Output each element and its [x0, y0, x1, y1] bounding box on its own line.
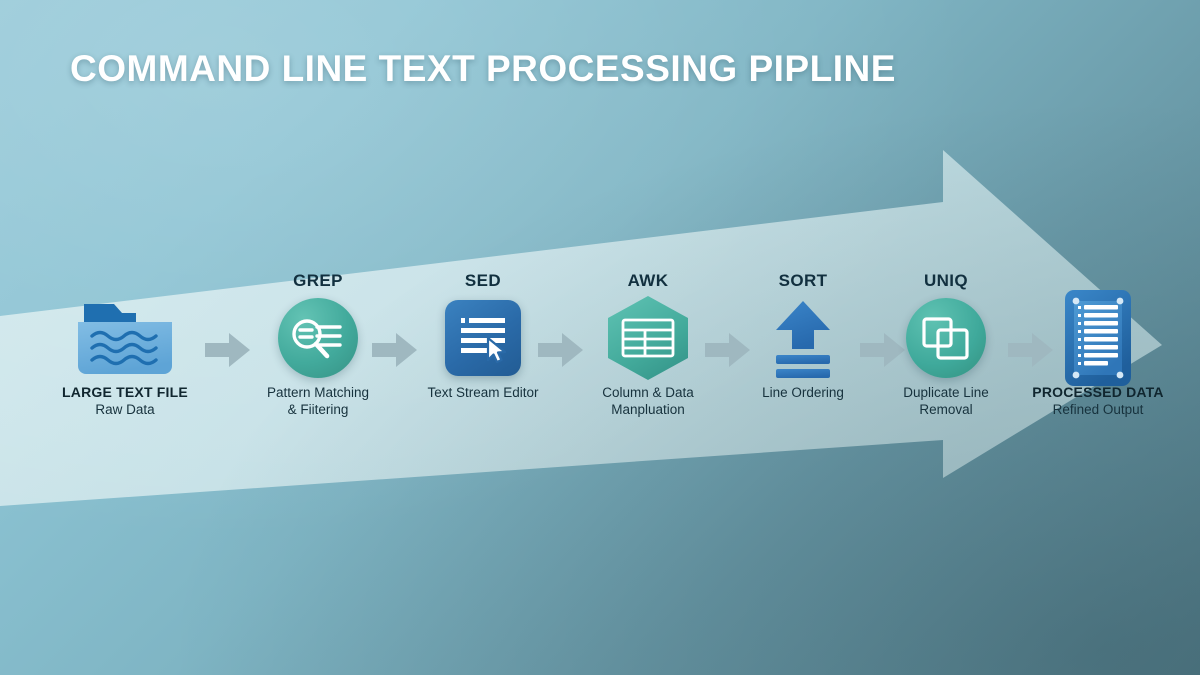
- document-list-card-icon: [1018, 292, 1178, 384]
- step-label-7: PROCESSED DATA: [1018, 384, 1178, 401]
- pipeline-step-awk[interactable]: AWK: [568, 270, 728, 418]
- overlapping-squares-icon: [866, 292, 1026, 384]
- diagram-canvas: COMMAND LINE TEXT PROCESSING PIPLINE: [0, 0, 1200, 675]
- pipeline-step-grep[interactable]: GREP Pattern: [238, 270, 398, 418]
- step-caption-sed: Text Stream Editor: [403, 384, 563, 401]
- step-heading-awk: AWK: [568, 270, 728, 292]
- page-title: COMMAND LINE TEXT PROCESSING PIPLINE: [70, 48, 896, 90]
- step-label-1: LARGE TEXT FILE: [45, 384, 205, 401]
- magnifier-lines-icon: [238, 292, 398, 384]
- hexagon-table-icon: [568, 292, 728, 384]
- step-caption-sort: Line Ordering: [723, 384, 883, 401]
- text-lines-cursor-icon: [403, 292, 563, 384]
- step-heading-sort: SORT: [723, 270, 883, 292]
- pipeline-step-sort[interactable]: SORT Line Ordering: [723, 270, 883, 401]
- step-heading-uniq: UNIQ: [866, 270, 1026, 292]
- pipeline-step-sed[interactable]: SED Text Stream Editor: [403, 270, 563, 401]
- step-heading-grep: GREP: [238, 270, 398, 292]
- step-sublabel-7: Refined Output: [1018, 401, 1178, 418]
- pipeline-steps: LARGE TEXT FILE Raw Data GREP: [0, 270, 1200, 450]
- pipeline-step-large-text-file[interactable]: LARGE TEXT FILE Raw Data: [45, 270, 205, 418]
- step-caption-grep: Pattern Matching & Fiitering: [238, 384, 398, 418]
- step-caption-awk: Column & Data Manpluation: [568, 384, 728, 418]
- step-caption-uniq: Duplicate Line Removal: [866, 384, 1026, 418]
- step-heading-sed: SED: [403, 270, 563, 292]
- pipeline-step-uniq[interactable]: UNIQ Duplicate Line Removal: [866, 270, 1026, 418]
- up-arrow-bars-icon: [723, 292, 883, 384]
- step-sublabel-1: Raw Data: [45, 401, 205, 418]
- folder-text-file-icon: [45, 292, 205, 384]
- pipeline-step-processed-data[interactable]: PROCESSED DATA Refined Output: [1018, 270, 1178, 418]
